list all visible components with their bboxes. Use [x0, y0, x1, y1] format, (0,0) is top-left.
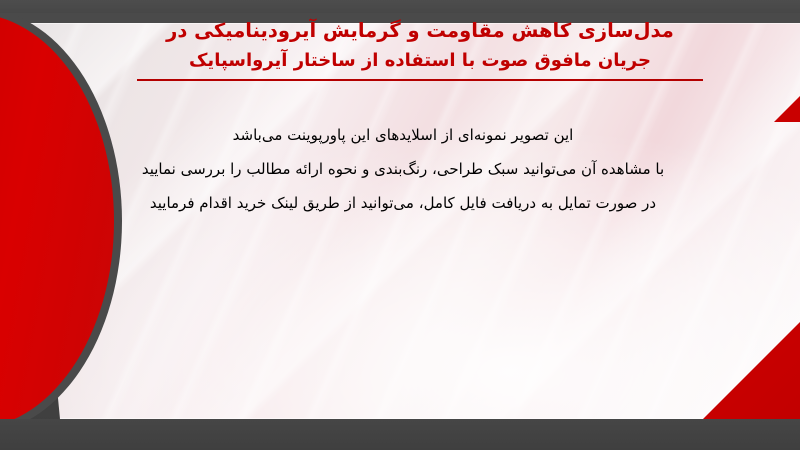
slide-title: مدل‌سازی کاهش مقاومت و گرمایش آیرودینامی… [100, 16, 740, 81]
title-line-1: مدل‌سازی کاهش مقاومت و گرمایش آیرودینامی… [100, 16, 740, 46]
title-underline-rule [137, 79, 703, 81]
body-line-2: با مشاهده آن می‌توانید سبک طراحی، رنگ‌بن… [78, 152, 728, 186]
slide-body-text: این تصویر نمونه‌ای از اسلایدهای این پاور… [78, 118, 728, 220]
slide-content-panel [22, 23, 800, 419]
title-line-2: جریان مافوق صوت با استفاده از ساختار آیر… [100, 46, 740, 78]
body-line-3: در صورت تمایل به دریافت فایل کامل، می‌تو… [78, 186, 728, 220]
presentation-slide: مدل‌سازی کاهش مقاومت و گرمایش آیرودینامی… [0, 0, 800, 450]
slide-top-border [0, 0, 800, 13]
slide-bottom-border [0, 419, 800, 450]
body-line-1: این تصویر نمونه‌ای از اسلایدهای این پاور… [78, 118, 728, 152]
